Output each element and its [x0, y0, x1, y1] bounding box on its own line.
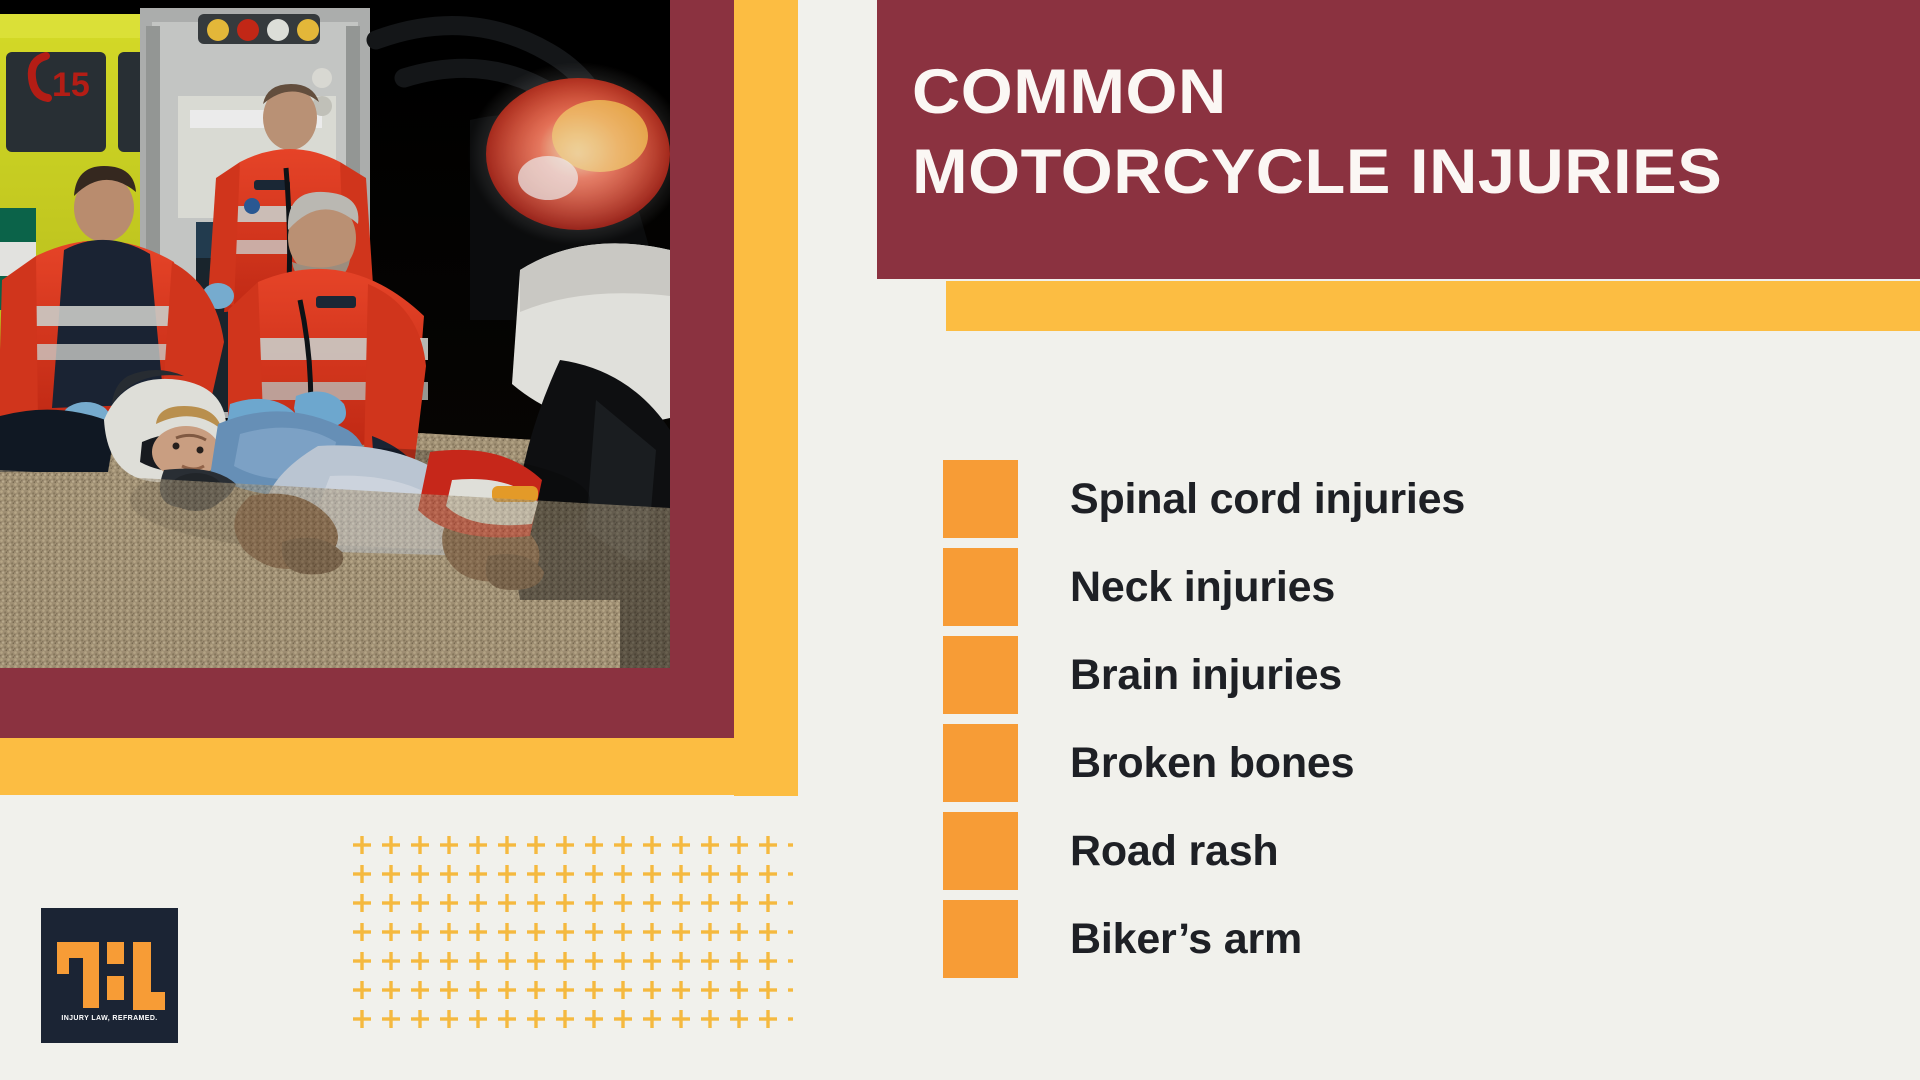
square-bullet-icon — [943, 636, 1018, 714]
list-item-label: Brain injuries — [1070, 651, 1342, 700]
list-item[interactable]: Road rash — [943, 807, 1843, 895]
list-item[interactable]: Biker’s arm — [943, 895, 1843, 983]
square-bullet-icon — [943, 460, 1018, 538]
list-item-label: Biker’s arm — [1070, 915, 1302, 964]
page-title: COMMON MOTORCYCLE INJURIES — [912, 52, 1722, 212]
injury-list: Spinal cord injuries Neck injuries Brain… — [943, 455, 1843, 983]
list-item[interactable]: Brain injuries — [943, 631, 1843, 719]
yellow-offset-band — [0, 737, 798, 795]
list-item-label: Broken bones — [1070, 739, 1354, 788]
yellow-vertical-band — [734, 0, 798, 796]
logo-mark-icon — [41, 908, 178, 1043]
plus-pattern-decoration — [353, 836, 793, 1048]
list-item[interactable]: Spinal cord injuries — [943, 455, 1843, 543]
title-accent-bar — [946, 281, 1920, 331]
accident-scene-photo: 15 — [0, 0, 670, 668]
photo-block: 15 — [0, 0, 798, 796]
list-item[interactable]: Broken bones — [943, 719, 1843, 807]
square-bullet-icon — [943, 812, 1018, 890]
logo-tagline: INJURY LAW, REFRAMED. — [41, 1015, 178, 1022]
square-bullet-icon — [943, 548, 1018, 626]
title-banner: COMMON MOTORCYCLE INJURIES — [877, 0, 1920, 279]
list-item-label: Neck injuries — [1070, 563, 1335, 612]
list-item[interactable]: Neck injuries — [943, 543, 1843, 631]
brand-logo[interactable]: INJURY LAW, REFRAMED. — [41, 908, 178, 1043]
infographic-canvas: 15 — [0, 0, 1920, 1080]
maroon-offset-band — [0, 668, 734, 738]
list-item-label: Road rash — [1070, 827, 1278, 876]
square-bullet-icon — [943, 900, 1018, 978]
maroon-vertical-band — [670, 0, 734, 738]
list-item-label: Spinal cord injuries — [1070, 475, 1465, 524]
square-bullet-icon — [943, 724, 1018, 802]
